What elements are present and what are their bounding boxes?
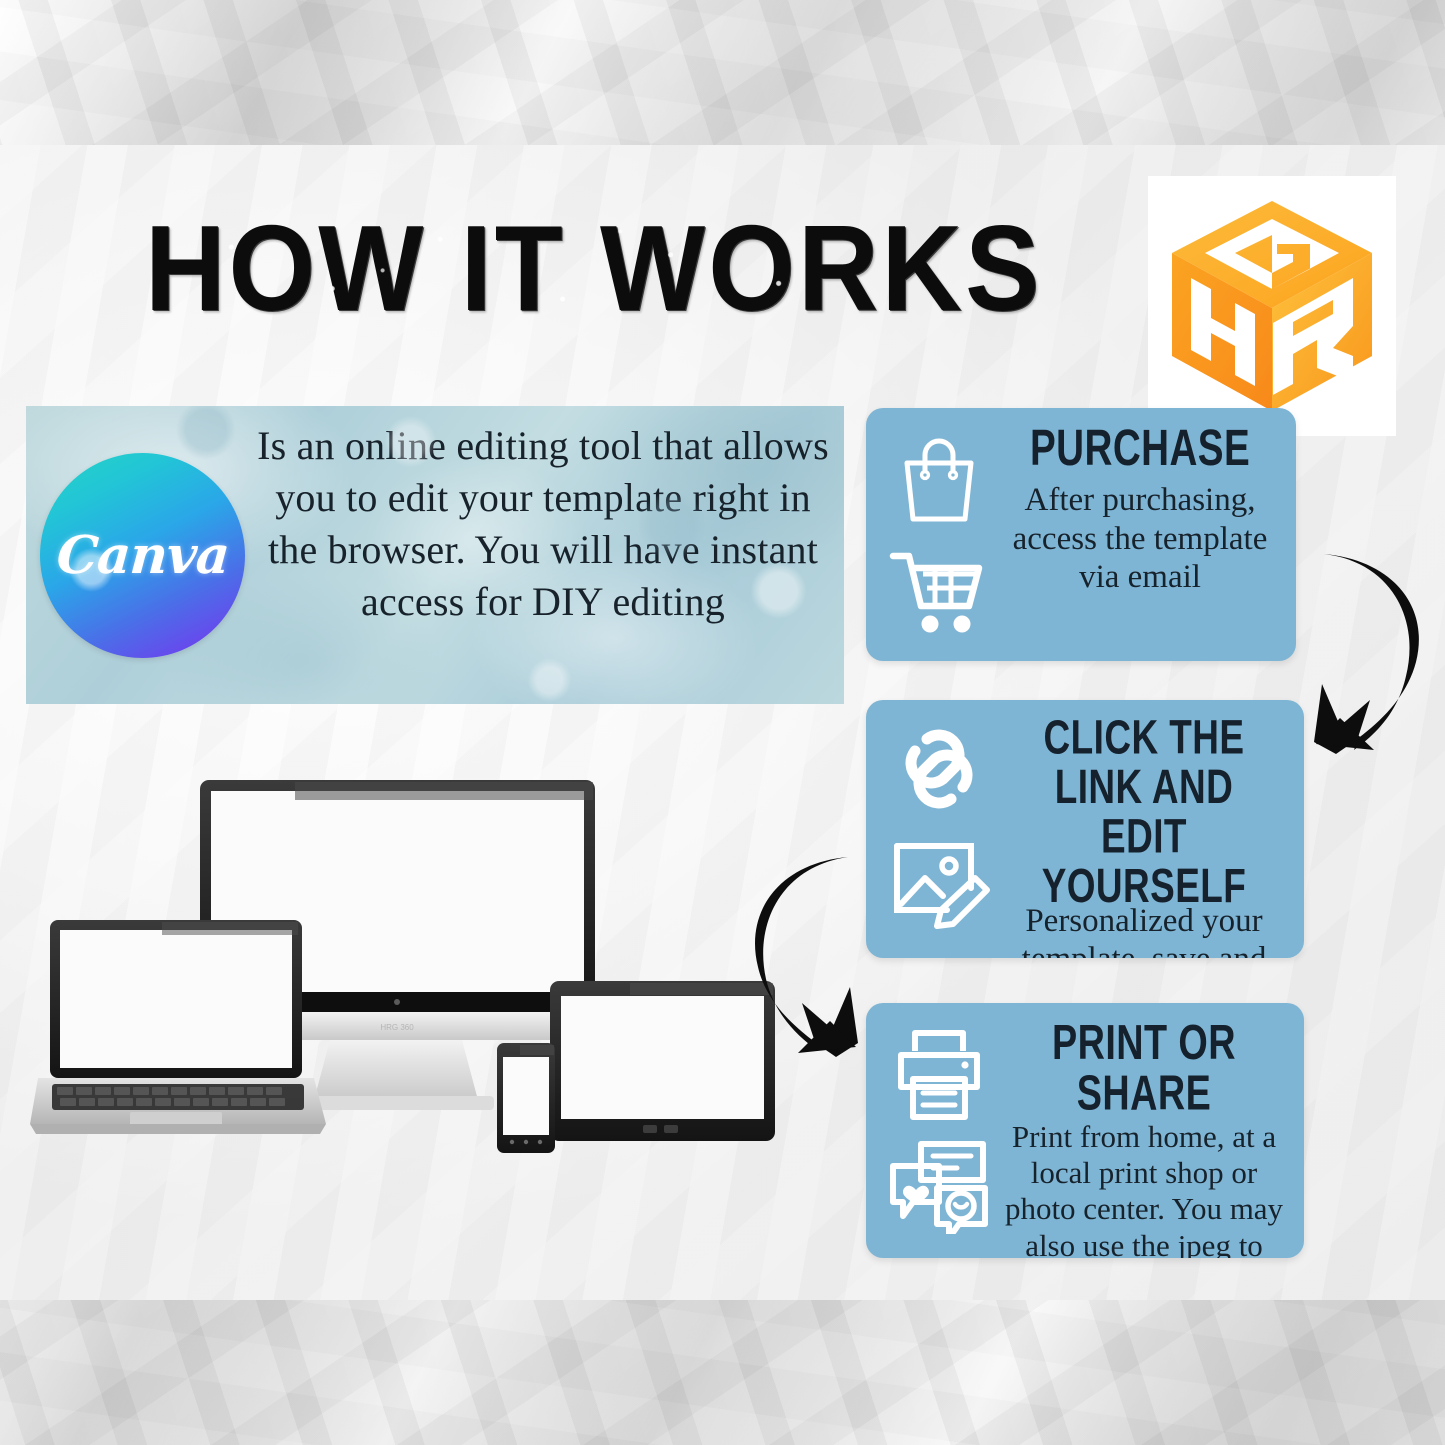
hrg-cube-icon bbox=[1167, 196, 1377, 416]
canva-info-panel: Canva Is an online editing tool that all… bbox=[26, 406, 844, 704]
step-card-print-share: PRINT OR SHARE Print from home, at a loc… bbox=[866, 1003, 1304, 1258]
step-card-click-link-edit: CLICK THE LINK AND EDIT YOURSELF Persona… bbox=[866, 700, 1304, 958]
share-bubbles-icon bbox=[887, 1138, 991, 1234]
step-card-purchase: PURCHASE After purchasing, access the te… bbox=[866, 408, 1296, 661]
canva-logo-icon: Canva bbox=[40, 453, 245, 658]
print-share-icon-group bbox=[880, 1017, 998, 1242]
canva-description: Is an online editing tool that allows yo… bbox=[254, 420, 832, 628]
printer-icon bbox=[889, 1025, 989, 1121]
canva-wordmark: Canva bbox=[54, 525, 230, 586]
purchase-card-body: PURCHASE After purchasing, access the te… bbox=[994, 422, 1286, 653]
print-share-card-body: PRINT OR SHARE Print from home, at a loc… bbox=[994, 1017, 1294, 1250]
tablet bbox=[550, 981, 775, 1141]
purchase-description: After purchasing, access the template vi… bbox=[994, 481, 1286, 597]
print-share-description: Print from home, at a local print shop o… bbox=[994, 1119, 1294, 1258]
arrow-edit-to-print bbox=[752, 845, 878, 1061]
hrg-logo bbox=[1148, 176, 1396, 436]
shopping-bag-icon bbox=[891, 431, 987, 527]
purchase-icon-group bbox=[880, 422, 998, 647]
edit-card-body: CLICK THE LINK AND EDIT YOURSELF Persona… bbox=[994, 714, 1294, 950]
edit-icon-group bbox=[880, 714, 998, 939]
image-edit-icon bbox=[887, 834, 991, 930]
laptop bbox=[30, 920, 326, 1134]
link-chain-icon bbox=[889, 723, 989, 815]
curved-arrow-down-right-icon bbox=[752, 845, 878, 1061]
curved-arrow-down-left-icon bbox=[1296, 536, 1436, 768]
print-share-heading: PRINT OR SHARE bbox=[1018, 1017, 1270, 1118]
how-it-works-poster: HOW IT WORKS bbox=[0, 0, 1445, 1445]
device-mockup-image: HRG 360 bbox=[30, 768, 775, 1173]
page-title: HOW IT WORKS bbox=[145, 208, 908, 330]
smartphone bbox=[497, 1043, 555, 1153]
devices-illustration: HRG 360 bbox=[30, 768, 775, 1173]
purchase-heading: PURCHASE bbox=[1030, 422, 1250, 474]
svg-text:HRG 360: HRG 360 bbox=[380, 1023, 414, 1032]
shopping-cart-icon bbox=[889, 546, 989, 638]
arrow-purchase-to-edit bbox=[1296, 536, 1436, 768]
edit-heading: CLICK THE LINK AND EDIT YOURSELF bbox=[1018, 714, 1270, 911]
